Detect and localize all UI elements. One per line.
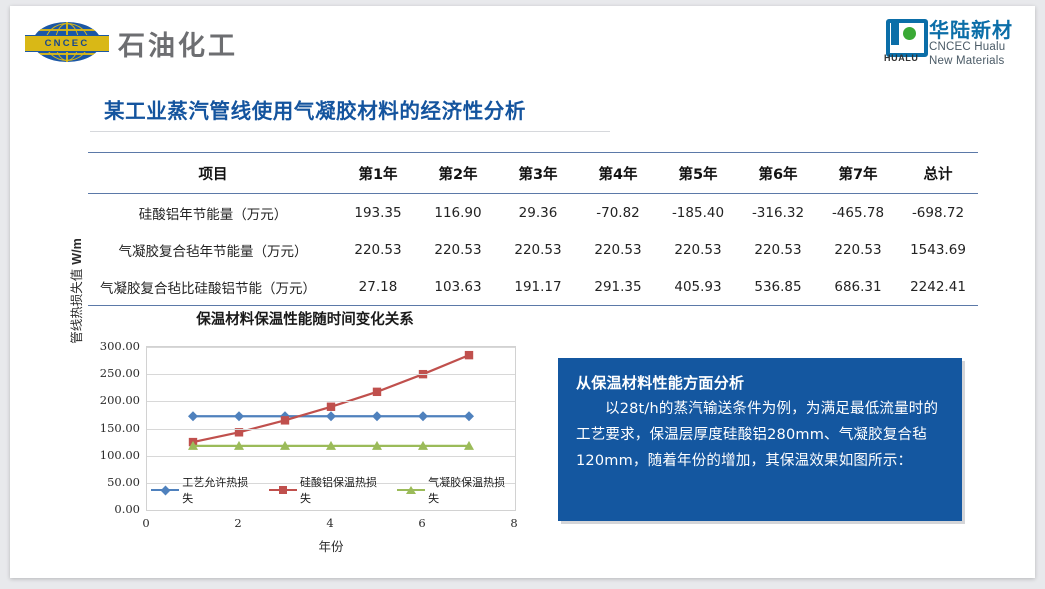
chart-x-tick-label: 8 — [510, 516, 517, 530]
chart-data-point — [281, 416, 289, 424]
table-column-header: 项目 — [88, 153, 338, 194]
table-cell-value: -698.72 — [898, 194, 978, 232]
table-column-header: 第7年 — [818, 153, 898, 194]
analysis-callout: 从保温材料性能方面分析 以28t/h的蒸汽输送条件为例，为满足最低流量时的工艺要… — [558, 358, 962, 521]
slide-header: CNCEC 石油化工 HUALU 华陆新材 CNCEC Hualu New Ma… — [10, 6, 1035, 78]
title-divider — [90, 131, 610, 132]
chart-legend-label: 气凝胶保温热损失 — [428, 474, 511, 506]
hualu-logo: HUALU 华陆新材 CNCEC Hualu New Materials — [884, 19, 1013, 65]
chart-legend-label: 工艺允许热损失 — [182, 474, 255, 506]
chart-y-tick-label: 0.00 — [114, 502, 140, 516]
chart-data-point — [465, 351, 473, 359]
table-cell-value: 116.90 — [418, 194, 498, 232]
table-column-header: 总计 — [898, 153, 978, 194]
chart-y-axis-label-unit: W/m — [70, 238, 84, 264]
chart-x-tick-label: 0 — [142, 516, 149, 530]
table-cell-value: 191.17 — [498, 268, 578, 306]
chart-x-tick-label: 2 — [234, 516, 241, 530]
table-cell-item: 气凝胶复合毡年节能量（万元） — [88, 231, 338, 268]
chart-data-point — [326, 411, 336, 421]
table-cell-value: 1543.69 — [898, 231, 978, 268]
table-cell-value: -465.78 — [818, 194, 898, 232]
table-row: 气凝胶复合毡比硅酸铝节能（万元）27.18103.63191.17291.354… — [88, 268, 978, 306]
table-head: 项目第1年第2年第3年第4年第5年第6年第7年总计 — [88, 153, 978, 194]
economics-table: 项目第1年第2年第3年第4年第5年第6年第7年总计 硅酸铝年节能量（万元）193… — [88, 152, 978, 306]
hualu-cn-name: 华陆新材 — [929, 20, 1013, 41]
chart-y-axis-label-cn: 管线热损失值 — [69, 269, 84, 344]
table-cell-value: 220.53 — [818, 231, 898, 268]
chart-y-tick-label: 100.00 — [100, 448, 140, 462]
table-header-row: 项目第1年第2年第3年第4年第5年第6年第7年总计 — [88, 153, 978, 194]
table-cell-value: -316.32 — [738, 194, 818, 232]
chart-legend-marker-icon — [397, 485, 425, 495]
chart-y-tick-label: 200.00 — [100, 393, 140, 407]
chart-data-point — [372, 411, 382, 421]
cncec-banner: CNCEC — [25, 35, 109, 52]
hualu-mark-icon: HUALU — [884, 19, 924, 63]
table-cell-value: 220.53 — [658, 231, 738, 268]
table-cell-value: 103.63 — [418, 268, 498, 306]
table-cell-value: 686.31 — [818, 268, 898, 306]
chart-y-tick-label: 300.00 — [100, 339, 140, 353]
chart-data-point — [327, 403, 335, 411]
table-cell-item: 气凝胶复合毡比硅酸铝节能（万元） — [88, 268, 338, 306]
chart-gridline — [147, 429, 515, 430]
table-cell-value: 291.35 — [578, 268, 658, 306]
chart-y-axis-label: 管线热损失值 W/m — [66, 216, 85, 366]
table-cell-value: 220.53 — [418, 231, 498, 268]
table-cell-value: 220.53 — [578, 231, 658, 268]
table-cell-value: -185.40 — [658, 194, 738, 232]
table-column-header: 第3年 — [498, 153, 578, 194]
table-cell-value: -70.82 — [578, 194, 658, 232]
table-column-header: 第4年 — [578, 153, 658, 194]
chart-x-ticks: 02468 — [146, 516, 516, 534]
table-column-header: 第2年 — [418, 153, 498, 194]
table-cell-value: 220.53 — [338, 231, 418, 268]
table-column-header: 第1年 — [338, 153, 418, 194]
chart-data-point — [188, 411, 198, 421]
table-cell-value: 220.53 — [498, 231, 578, 268]
table-cell-value: 536.85 — [738, 268, 818, 306]
cncec-logo: CNCEC — [25, 20, 111, 64]
table-cell-value: 405.93 — [658, 268, 738, 306]
cncec-wordmark: 石油化工 — [118, 24, 238, 63]
table-column-header: 第6年 — [738, 153, 818, 194]
economics-table-wrapper: 项目第1年第2年第3年第4年第5年第6年第7年总计 硅酸铝年节能量（万元）193… — [88, 152, 978, 306]
insulation-performance-chart: 保温材料保温性能随时间变化关系 管线热损失值 W/m 0.0050.00100.… — [70, 308, 540, 566]
chart-legend-marker-icon — [269, 485, 297, 495]
table-cell-item: 硅酸铝年节能量（万元） — [88, 194, 338, 232]
chart-gridline — [147, 401, 515, 402]
chart-legend-item[interactable]: 硅酸铝保温热损失 — [269, 474, 383, 506]
chart-x-tick-label: 4 — [326, 516, 333, 530]
chart-legend-item[interactable]: 工艺允许热损失 — [151, 474, 255, 506]
chart-legend-marker-icon — [151, 485, 179, 495]
chart-legend-item[interactable]: 气凝胶保温热损失 — [397, 474, 511, 506]
chart-title: 保温材料保温性能随时间变化关系 — [70, 308, 540, 329]
chart-x-axis-label: 年份 — [146, 536, 516, 555]
table-cell-value: 2242.41 — [898, 268, 978, 306]
chart-x-tick-label: 6 — [418, 516, 425, 530]
table-column-header: 第5年 — [658, 153, 738, 194]
chart-data-point — [418, 411, 428, 421]
chart-plot-area: 工艺允许热损失硅酸铝保温热损失气凝胶保温热损失 — [146, 346, 516, 511]
hualu-en-line2: New Materials — [929, 55, 1013, 69]
chart-y-tick-label: 150.00 — [100, 421, 140, 435]
page-title: 某工业蒸汽管线使用气凝胶材料的经济性分析 — [104, 94, 526, 124]
chart-data-point — [234, 411, 244, 421]
slide-canvas: CNCEC 石油化工 HUALU 华陆新材 CNCEC Hualu New Ma… — [10, 6, 1035, 578]
hualu-en-line1: CNCEC Hualu — [929, 41, 1013, 55]
table-cell-value: 27.18 — [338, 268, 418, 306]
table-body: 硅酸铝年节能量（万元）193.35116.9029.36-70.82-185.4… — [88, 194, 978, 306]
hualu-mark-label: HUALU — [884, 53, 919, 63]
table-cell-value: 220.53 — [738, 231, 818, 268]
chart-gridline — [147, 347, 515, 348]
chart-legend: 工艺允许热损失硅酸铝保温热损失气凝胶保温热损失 — [151, 474, 511, 506]
chart-y-tick-label: 50.00 — [107, 475, 140, 489]
table-row: 硅酸铝年节能量（万元）193.35116.9029.36-70.82-185.4… — [88, 194, 978, 232]
callout-heading: 从保温材料性能方面分析 — [576, 372, 944, 393]
chart-data-point — [373, 388, 381, 396]
chart-gridline — [147, 374, 515, 375]
table-row: 气凝胶复合毡年节能量（万元）220.53220.53220.53220.5322… — [88, 231, 978, 268]
chart-legend-label: 硅酸铝保温热损失 — [300, 474, 383, 506]
table-cell-value: 193.35 — [338, 194, 418, 232]
chart-y-tick-label: 250.00 — [100, 366, 140, 380]
chart-data-point — [464, 411, 474, 421]
chart-gridline — [147, 456, 515, 457]
table-cell-value: 29.36 — [498, 194, 578, 232]
callout-body: 以28t/h的蒸汽输送条件为例，为满足最低流量时的工艺要求，保温层厚度硅酸铝28… — [576, 397, 944, 474]
chart-y-ticks: 0.0050.00100.00150.00200.00250.00300.00 — [82, 346, 140, 511]
